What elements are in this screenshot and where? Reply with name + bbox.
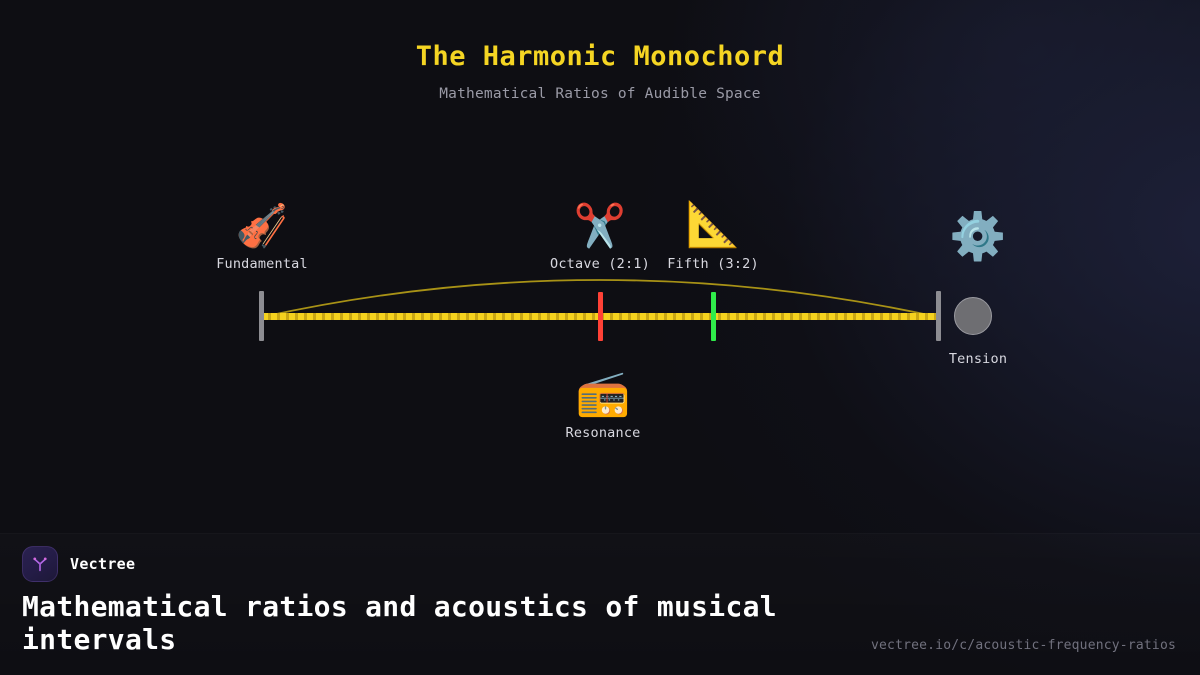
node-octave: ✂️ Octave (2:1) [550,205,650,272]
node-fundamental: 🎻 Fundamental [216,205,308,272]
vectree-mark-glyph [29,553,51,575]
node-fifth: 📐 Fifth (3:2) [667,203,759,272]
monochord-diagram: 🎻 Fundamental ✂️ Octave (2:1) 📐 Fifth (3… [0,0,1200,540]
brand: Vectree [22,546,135,582]
node-resonance: 📻 Resonance [566,372,641,441]
scissors-icon: ✂️ [550,205,650,247]
node-tension: ⚙️ Tension [949,213,1007,367]
bridge-post [936,291,941,341]
node-tension-label: Tension [949,351,1007,367]
node-fifth-label: Fifth (3:2) [667,256,759,272]
node-resonance-label: Resonance [566,425,641,441]
octave-marker [598,292,603,341]
footer-url: vectree.io/c/acoustic-frequency-ratios [871,638,1176,653]
triangular-ruler-icon: 📐 [667,203,759,247]
fifth-marker [711,292,716,341]
radio-icon: 📻 [566,372,641,416]
footer: Vectree Mathematical ratios and acoustic… [0,533,1200,675]
brand-name: Vectree [70,555,135,573]
gear-icon: ⚙️ [949,213,1007,259]
footer-headline: Mathematical ratios and acoustics of mus… [22,590,842,656]
node-octave-label: Octave (2:1) [550,256,650,272]
violin-icon: 🎻 [216,205,308,247]
node-fundamental-label: Fundamental [216,256,308,272]
nut-post [259,291,264,341]
vectree-logo-icon [22,546,58,582]
